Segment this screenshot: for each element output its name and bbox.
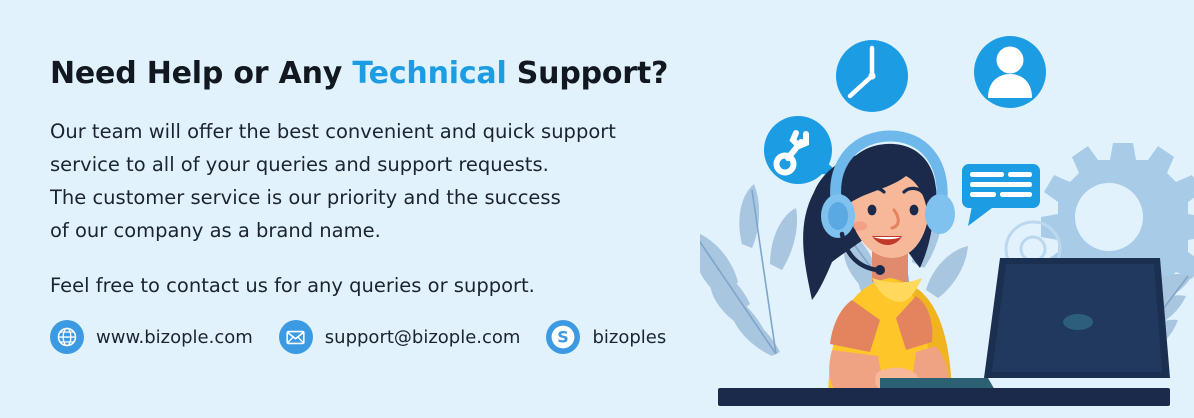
svg-text:S: S — [558, 328, 570, 347]
contact-item-email[interactable]: support@bizople.com — [279, 320, 521, 354]
contact-label-email: support@bizople.com — [325, 327, 521, 348]
headline-accent: Technical — [352, 56, 506, 91]
contact-row: www.bizople.com support@bizople.com S — [50, 320, 692, 354]
description-line-3: The customer service is our priority and… — [50, 181, 730, 214]
contact-label-website: www.bizople.com — [96, 327, 253, 348]
skype-icon: S — [546, 320, 580, 354]
description-line-1: Our team will offer the best convenient … — [50, 115, 730, 148]
description-paragraph: Our team will offer the best convenient … — [50, 115, 730, 247]
contact-item-skype[interactable]: S bizoples — [546, 320, 666, 354]
page-title: Need Help or Any Technical Support? — [50, 56, 730, 91]
clock-icon — [836, 40, 908, 112]
headline-part1: Need Help or Any — [50, 56, 352, 91]
description-line-2: service to all of your queries and suppo… — [50, 148, 730, 181]
contact-label-skype: bizoples — [592, 327, 666, 348]
globe-icon — [50, 320, 84, 354]
banner-content: Need Help or Any Technical Support? Our … — [50, 56, 730, 302]
description-line-4: of our company as a brand name. — [50, 214, 730, 247]
envelope-icon — [279, 320, 313, 354]
headline-part2: Support? — [507, 56, 669, 91]
tagline-text: Feel free to contact us for any queries … — [50, 269, 730, 302]
contact-item-website[interactable]: www.bizople.com — [50, 320, 253, 354]
user-avatar-icon — [974, 36, 1046, 108]
support-banner: Need Help or Any Technical Support? Our … — [0, 0, 1194, 418]
support-illustration — [700, 0, 1194, 418]
